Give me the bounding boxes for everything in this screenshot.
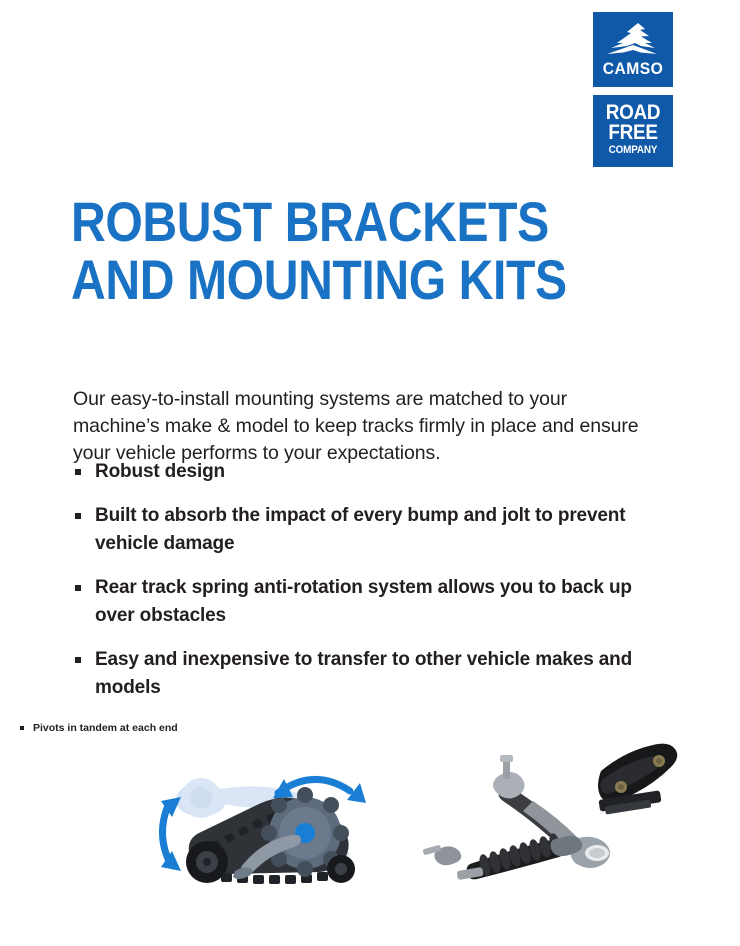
camso-logo: CAMSO [593, 12, 673, 87]
mounting-bracket-part [598, 744, 677, 815]
front-rollers [327, 855, 355, 883]
road-free-line-1: ROAD [597, 103, 669, 123]
road-free-line-3: COMPANY [597, 145, 669, 155]
page-title-line-2: AND MOUNTING KITS [71, 251, 587, 309]
list-item-label: Robust design [95, 461, 225, 482]
coil-spring-part [423, 832, 577, 880]
square-bullet-icon [75, 513, 81, 519]
list-item: Robust design [73, 458, 653, 486]
figure-caption: Pivots in tandem at each end [20, 721, 178, 735]
camso-wordmark: CAMSO [596, 60, 670, 77]
page-title: ROBUST BRACKETS AND MOUNTING KITS [71, 193, 671, 309]
list-item: Easy and inexpensive to transfer to othe… [73, 646, 653, 702]
figure-caption-label: Pivots in tandem at each end [33, 722, 178, 734]
figure-area [0, 735, 740, 915]
pivot-arrow-vertical [161, 797, 181, 871]
brochure-page: CAMSO ROAD FREE COMPANY ROBUST BRACKETS … [0, 0, 740, 946]
feature-list: Robust design Built to absorb the impact… [73, 458, 653, 702]
page-title-line-1: ROBUST BRACKETS [71, 193, 587, 251]
square-bullet-icon [75, 657, 81, 663]
road-free-line-2: FREE [597, 123, 669, 143]
square-bullet-icon [75, 469, 81, 475]
square-bullet-icon [75, 585, 81, 591]
list-item-label: Built to absorb the impact of every bump… [95, 505, 625, 554]
rubber-track-system-illustration [145, 745, 395, 910]
logo-stack: CAMSO ROAD FREE COMPANY [593, 12, 673, 167]
list-item-label: Rear track spring anti-rotation system a… [95, 577, 632, 626]
road-free-company-logo: ROAD FREE COMPANY [593, 95, 673, 167]
intro-paragraph: Our easy-to-install mounting systems are… [73, 386, 648, 467]
list-item-label: Easy and inexpensive to transfer to othe… [95, 649, 632, 698]
camso-mountain-mark-icon [605, 21, 661, 57]
list-item: Rear track spring anti-rotation system a… [73, 574, 653, 630]
list-item: Built to absorb the impact of every bump… [73, 502, 653, 558]
square-bullet-icon [20, 726, 24, 730]
mounting-hardware-photo [415, 735, 715, 905]
